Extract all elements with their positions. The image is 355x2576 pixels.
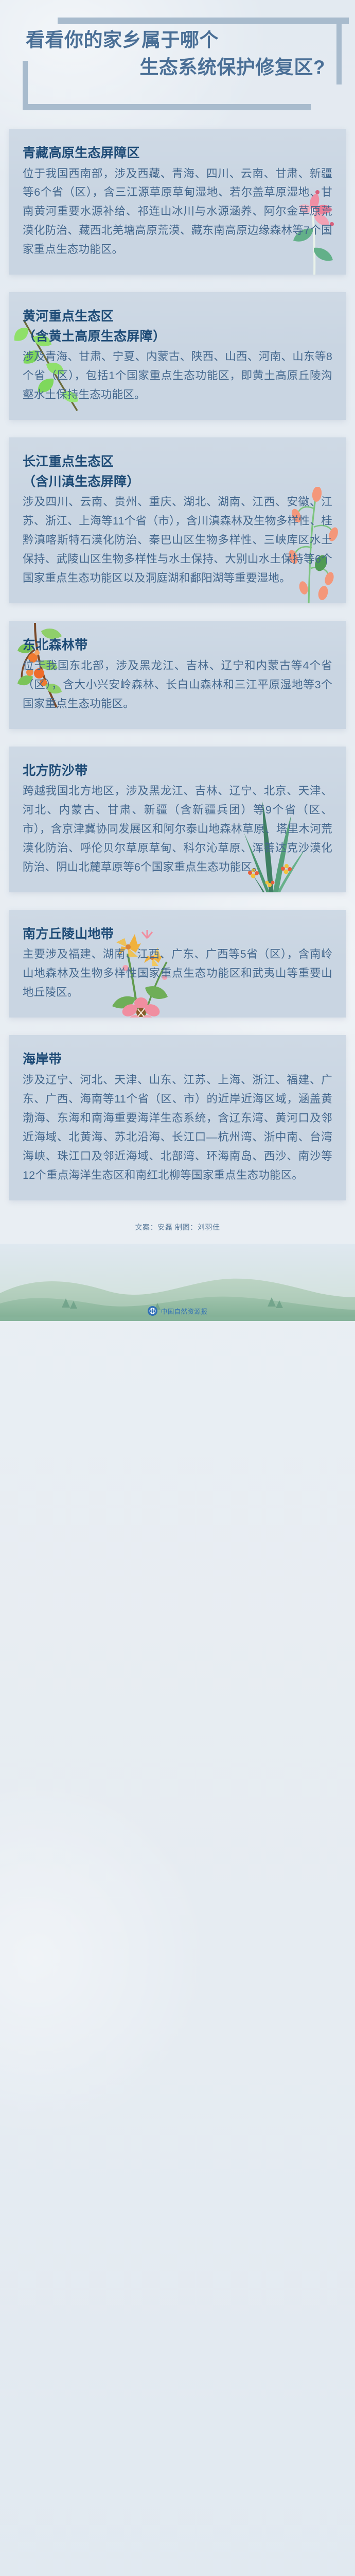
section-body: 涉及青海、甘肃、宁夏、内蒙古、陕西、山西、河南、山东等8个省（区），包括1个国家… [23,347,332,404]
section-card-dongbei: 东北森林带 位于我国东北部，涉及黑龙江、吉林、辽宁和内蒙古等4个省（区），含大小… [9,621,346,728]
page-title-line-2: 生态系统保护修复区? [25,54,328,81]
section-body: 位于我国东北部，涉及黑龙江、吉林、辽宁和内蒙古等4个省（区），含大小兴安岭森林、… [23,656,332,714]
section-subtitle: （含川滇生态屏障） [23,473,332,491]
section-body: 位于我国西南部，涉及西藏、青海、四川、云南、甘肃、新疆等6个省（区），含三江源草… [23,164,332,260]
page-header: 看看你的家乡属于哪个 生态系统保护修复区? [0,0,355,129]
credit-line: 文案：安磊 制图：刘羽佳 [0,1218,355,1232]
section-title: 海岸带 [23,1050,332,1069]
frame-bottom-bar [23,104,311,110]
section-card-beifang: 北方防沙带 跨越我国北方地区，涉及黑龙江、吉林、辽宁、北京、天津、河北、内蒙古、… [9,747,346,892]
section-title: 东北森林带 [23,636,332,654]
publisher-logo[interactable]: 中国自然资源报 [0,1306,355,1316]
section-title: 南方丘陵山地带 [23,925,332,943]
page-title: 看看你的家乡属于哪个 生态系统保护修复区? [11,27,346,81]
section-card-nanfang: 南方丘陵山地带 主要涉及福建、湖南、江西、广东、广西等5省（区），含南岭山地森林… [9,910,346,1018]
section-body: 主要涉及福建、湖南、江西、广东、广西等5省（区），含南岭山地森林及生物多样性国家… [23,945,332,1002]
section-card-changjiang: 长江重点生态区 （含川滇生态屏障） 涉及四川、云南、贵州、重庆、湖北、湖南、江西… [9,437,346,603]
section-body: 涉及辽宁、河北、天津、山东、江苏、上海、浙江、福建、广东、广西、海南等11个省（… [23,1071,332,1185]
section-list: 青藏高原生态屏障区 位于我国西南部，涉及西藏、青海、四川、云南、甘肃、新疆等6个… [0,129,355,1200]
frame-top-bar [58,18,349,24]
page-footer: 文案：安磊 制图：刘羽佳 中国自然资源报 [0,1218,355,1321]
globe-icon [148,1306,157,1316]
publisher-name: 中国自然资源报 [161,1306,207,1316]
background-wash-bottom [0,1649,355,2164]
section-title: 北方防沙带 [23,762,332,780]
section-title: 长江重点生态区 [23,453,332,471]
title-frame: 看看你的家乡属于哪个 生态系统保护修复区? [11,18,346,113]
section-body: 涉及四川、云南、贵州、重庆、湖北、湖南、江西、安徽、江苏、浙江、上海等11个省（… [23,493,332,588]
section-body: 跨越我国北方地区，涉及黑龙江、吉林、辽宁、北京、天津、河北、内蒙古、甘肃、新疆（… [23,782,332,877]
section-subtitle: （含黄土高原生态屏障） [23,328,332,346]
section-card-haianchang: 海岸带 涉及辽宁、河北、天津、山东、江苏、上海、浙江、福建、广东、广西、海南等1… [9,1035,346,1200]
section-card-huanghe: 黄河重点生态区 （含黄土高原生态屏障） 涉及青海、甘肃、宁夏、内蒙古、陕西、山西… [9,292,346,420]
page-title-line-1: 看看你的家乡属于哪个 [25,27,328,54]
section-title: 青藏高原生态屏障区 [23,144,332,162]
section-title: 黄河重点生态区 [23,308,332,326]
section-card-qingzang: 青藏高原生态屏障区 位于我国西南部，涉及西藏、青海、四川、云南、甘肃、新疆等6个… [9,129,346,275]
